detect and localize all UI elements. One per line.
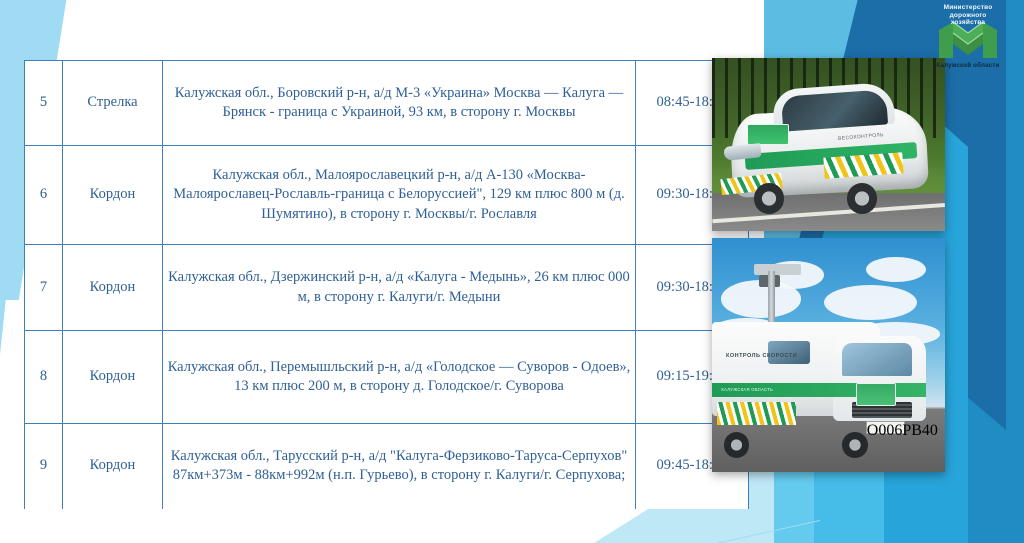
- slide-canvas: Министерство дорожного хозяйства Калужск…: [0, 0, 1024, 543]
- cloud: [824, 285, 917, 320]
- row-number-cell: 8: [25, 331, 63, 424]
- car-front-wheel: [754, 183, 784, 213]
- table-row: 5 Стрелка Калужская обл., Боровский р-н,…: [25, 61, 749, 146]
- logo-title-line2: дорожного: [950, 12, 987, 19]
- logo-title-line3: хозяйства: [951, 19, 985, 26]
- van-emblem: [856, 383, 895, 406]
- row-number-cell: 6: [25, 146, 63, 245]
- speed-control-points-table: 5 Стрелка Калужская обл., Боровский р-н,…: [24, 60, 749, 509]
- row-number-cell: 7: [25, 245, 63, 331]
- location-cell: Калужская обл., Дзержинский р-н, а/д «Ка…: [163, 245, 636, 331]
- table-row: 9 Кордон Калужская обл., Тарусский р-н, …: [25, 424, 749, 509]
- photo-speed-control-van: О006РВ40 КОНТРОЛЬ СКОРОСТИ КАЛУЖСКАЯ ОБЛ…: [712, 238, 945, 472]
- device-name-cell: Кордон: [63, 331, 163, 424]
- location-cell: Калужская обл., Перемышльский р-н, а/д «…: [163, 331, 636, 424]
- logo-title-line1: Министерство: [944, 4, 993, 11]
- van-license-plate: О006РВ40: [866, 421, 905, 435]
- device-name-cell: Кордон: [63, 424, 163, 509]
- van-side-lettering: КОНТРОЛЬ СКОРОСТИ: [726, 353, 797, 359]
- table-row: 7 Кордон Калужская обл., Дзержинский р-н…: [25, 245, 749, 331]
- location-cell: Калужская обл., Боровский р-н, а/д М-3 «…: [163, 61, 636, 146]
- location-cell: Калужская обл., Тарусский р-н, а/д "Калу…: [163, 424, 636, 509]
- van-rear-wheel: [724, 432, 750, 458]
- table-row: 6 Кордон Калужская обл., Малоярославецки…: [25, 146, 749, 245]
- camera-mast-head: [754, 264, 801, 276]
- location-cell: Калужская обл., Малоярославецкий р-н, а/…: [163, 146, 636, 245]
- row-number-cell: 9: [25, 424, 63, 509]
- device-name-cell: Кордон: [63, 146, 163, 245]
- logo-subtitle: Калужской области: [926, 62, 1010, 69]
- van-windshield: [842, 343, 912, 376]
- device-name-cell: Кордон: [63, 245, 163, 331]
- van-front-wheel: [842, 432, 868, 458]
- car-emblem: [747, 124, 789, 145]
- device-name-cell: Стрелка: [63, 61, 163, 146]
- car-rear-wheel: [847, 183, 877, 213]
- photo-patrol-car: ВЕСОКОНТРОЛЬ: [712, 58, 945, 231]
- logo-title: Министерство дорожного хозяйства: [926, 2, 1010, 27]
- van-region-lettering: КАЛУЖСКАЯ ОБЛАСТЬ: [721, 387, 773, 392]
- car-windshield: [781, 89, 888, 131]
- table-body: 5 Стрелка Калужская обл., Боровский р-н,…: [25, 61, 749, 509]
- table-row: 8 Кордон Калужская обл., Перемышльский р…: [25, 331, 749, 424]
- row-number-cell: 5: [25, 61, 63, 146]
- van-chevron-marking: [717, 402, 796, 425]
